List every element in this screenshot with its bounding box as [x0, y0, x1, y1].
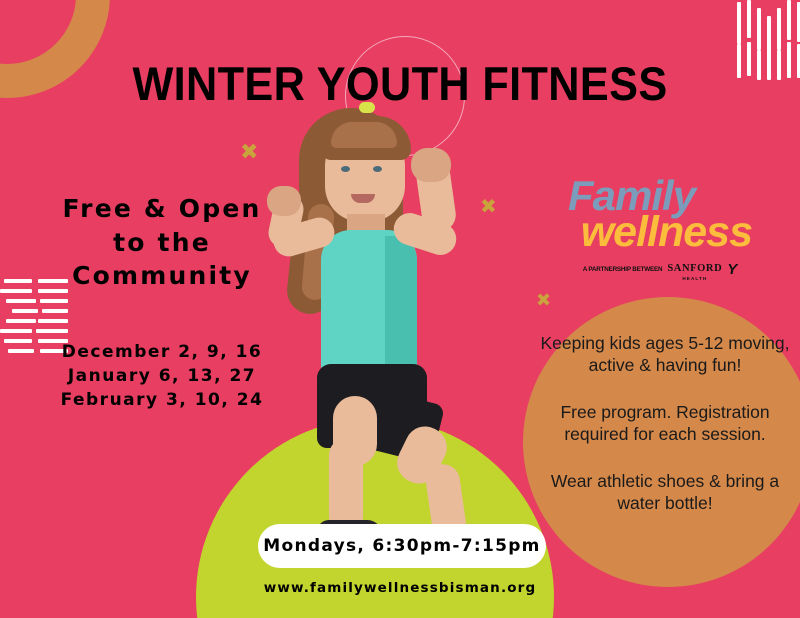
logo-partnership-text: A PARTNERSHIP BETWEEN — [583, 266, 663, 273]
headline-free-and-open: Free & Open to the Community — [46, 192, 278, 293]
website-url[interactable]: www.familywellnessbisman.org — [200, 580, 600, 596]
program-info-block: Keeping kids ages 5-12 moving, active & … — [534, 332, 796, 514]
schedule-pill: Mondays, 6:30pm-7:15pm — [258, 524, 546, 568]
session-dates-list: December 2, 9, 16 January 6, 13, 27 Febr… — [44, 340, 280, 412]
page-title: WINTER YOUTH FITNESS — [32, 56, 768, 111]
ymca-y-icon: Y — [727, 262, 737, 277]
date-line: January 6, 13, 27 — [44, 364, 280, 388]
headline-line: Community — [46, 259, 278, 293]
sanford-text: SANFORD — [667, 263, 722, 274]
headline-line: Free & Open — [46, 192, 278, 226]
sanford-health-mark: SANFORD HEALTH — [667, 258, 722, 281]
info-paragraph: Keeping kids ages 5-12 moving, active & … — [534, 332, 796, 376]
info-paragraph: Free program. Registration required for … — [534, 401, 796, 445]
family-wellness-logo: Family wellness A PARTNERSHIP BETWEEN SA… — [566, 176, 754, 281]
info-paragraph: Wear athletic shoes & bring a water bott… — [534, 470, 796, 514]
logo-wellness-text: wellness — [566, 212, 752, 252]
logo-partnership-row: A PARTNERSHIP BETWEEN SANFORD HEALTH Y — [566, 258, 754, 281]
date-line: February 3, 10, 24 — [44, 388, 280, 412]
date-line: December 2, 9, 16 — [44, 340, 280, 364]
headline-line: to the — [46, 226, 278, 260]
poster-canvas: ✖ ✖ ✖ ✖ — [0, 0, 800, 618]
schedule-text: Mondays, 6:30pm-7:15pm — [263, 536, 540, 556]
girl-photo — [243, 96, 573, 546]
health-text: HEALTH — [667, 276, 722, 281]
